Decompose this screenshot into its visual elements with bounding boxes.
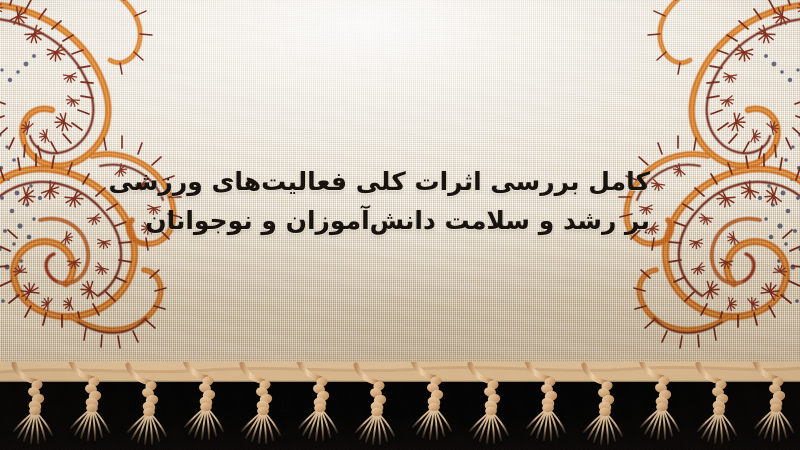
title-block: کامل بررسی اثرات کلی فعالیت‌های ورزشی بر… <box>150 162 650 240</box>
title-line-2: بر رشد و سلامت دانش‌آموزان و نوجوانان <box>150 201 650 240</box>
title-line-1: کامل بررسی اثرات کلی فعالیت‌های ورزشی <box>150 162 650 201</box>
cloth-bottom-edge <box>0 366 800 382</box>
title-card-stage: کامل بررسی اثرات کلی فعالیت‌های ورزشی بر… <box>0 0 800 450</box>
